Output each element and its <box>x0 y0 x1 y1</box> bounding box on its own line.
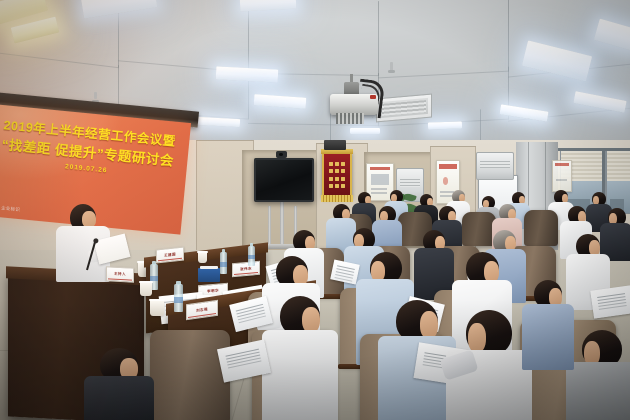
water-bottle <box>174 284 183 312</box>
video-conference-camera <box>276 151 287 158</box>
banner-column <box>335 158 339 192</box>
banner-speaker-box <box>324 140 346 150</box>
attendee <box>566 330 630 420</box>
poster-banner <box>439 164 457 168</box>
paper-cup <box>198 252 207 263</box>
nameplate-text: 李明华 <box>207 288 219 294</box>
tv-stand-pole <box>268 206 271 246</box>
banner-column <box>329 158 333 192</box>
podium-nameplate-text: 主持人 <box>114 272 126 278</box>
ceiling-light <box>350 128 380 134</box>
table-nameplate: 张伟东 <box>232 261 260 277</box>
attendee-torso <box>262 330 338 420</box>
attendee <box>414 230 454 298</box>
water-bottle <box>248 246 255 266</box>
wall-poster <box>552 160 572 192</box>
poster-image <box>371 174 390 185</box>
poster-banner <box>555 163 569 166</box>
paper-cup <box>150 300 164 316</box>
nameplate-text: 张伟东 <box>240 266 252 272</box>
fire-sprinkler <box>94 92 97 99</box>
projector-vent <box>336 113 364 124</box>
attendee <box>522 280 574 366</box>
water-bottle <box>220 252 227 274</box>
attendee <box>446 310 532 420</box>
screen-logo-text: 企业标识 <box>1 205 21 213</box>
poster-banner <box>370 167 391 171</box>
poster-line <box>556 179 568 181</box>
attendee <box>84 348 154 420</box>
attendee-document <box>590 285 630 318</box>
projector-indicator <box>370 95 376 99</box>
table-nameplate: 王建国 <box>156 247 184 264</box>
conference-room-photo: 2019年上半年经营工作会议暨 “找差距 促提升”专题研讨会 2019.07.2… <box>0 0 630 420</box>
nameplate-text: 王建国 <box>164 252 176 258</box>
tissue-box <box>198 268 220 282</box>
attendee-torso <box>522 304 574 370</box>
air-conditioner-unit <box>476 152 514 180</box>
award-banner <box>322 152 352 198</box>
ceiling-projector <box>330 80 386 120</box>
attendee-torso <box>84 376 154 420</box>
wall-display <box>254 158 314 202</box>
window-frame <box>558 148 630 151</box>
attendee <box>262 296 338 420</box>
attendee-face <box>468 323 486 353</box>
window-blind[interactable] <box>607 151 630 182</box>
poster-graphic <box>443 177 449 185</box>
audience-chair[interactable] <box>524 210 558 246</box>
display-panel <box>256 160 312 200</box>
audience-chair[interactable] <box>150 330 230 420</box>
attendee-face <box>420 311 438 339</box>
screen-logo: 企业标识 <box>0 202 21 214</box>
fire-sprinkler <box>390 62 393 71</box>
podium-nameplate: 主持人 <box>106 266 134 282</box>
banner-column <box>341 158 345 192</box>
ceiling-light <box>428 121 462 129</box>
nameplate-text: 刘志强 <box>196 307 208 314</box>
ceiling-tile <box>248 0 379 76</box>
attendee-torso <box>566 362 630 420</box>
paper-cup <box>140 282 152 296</box>
